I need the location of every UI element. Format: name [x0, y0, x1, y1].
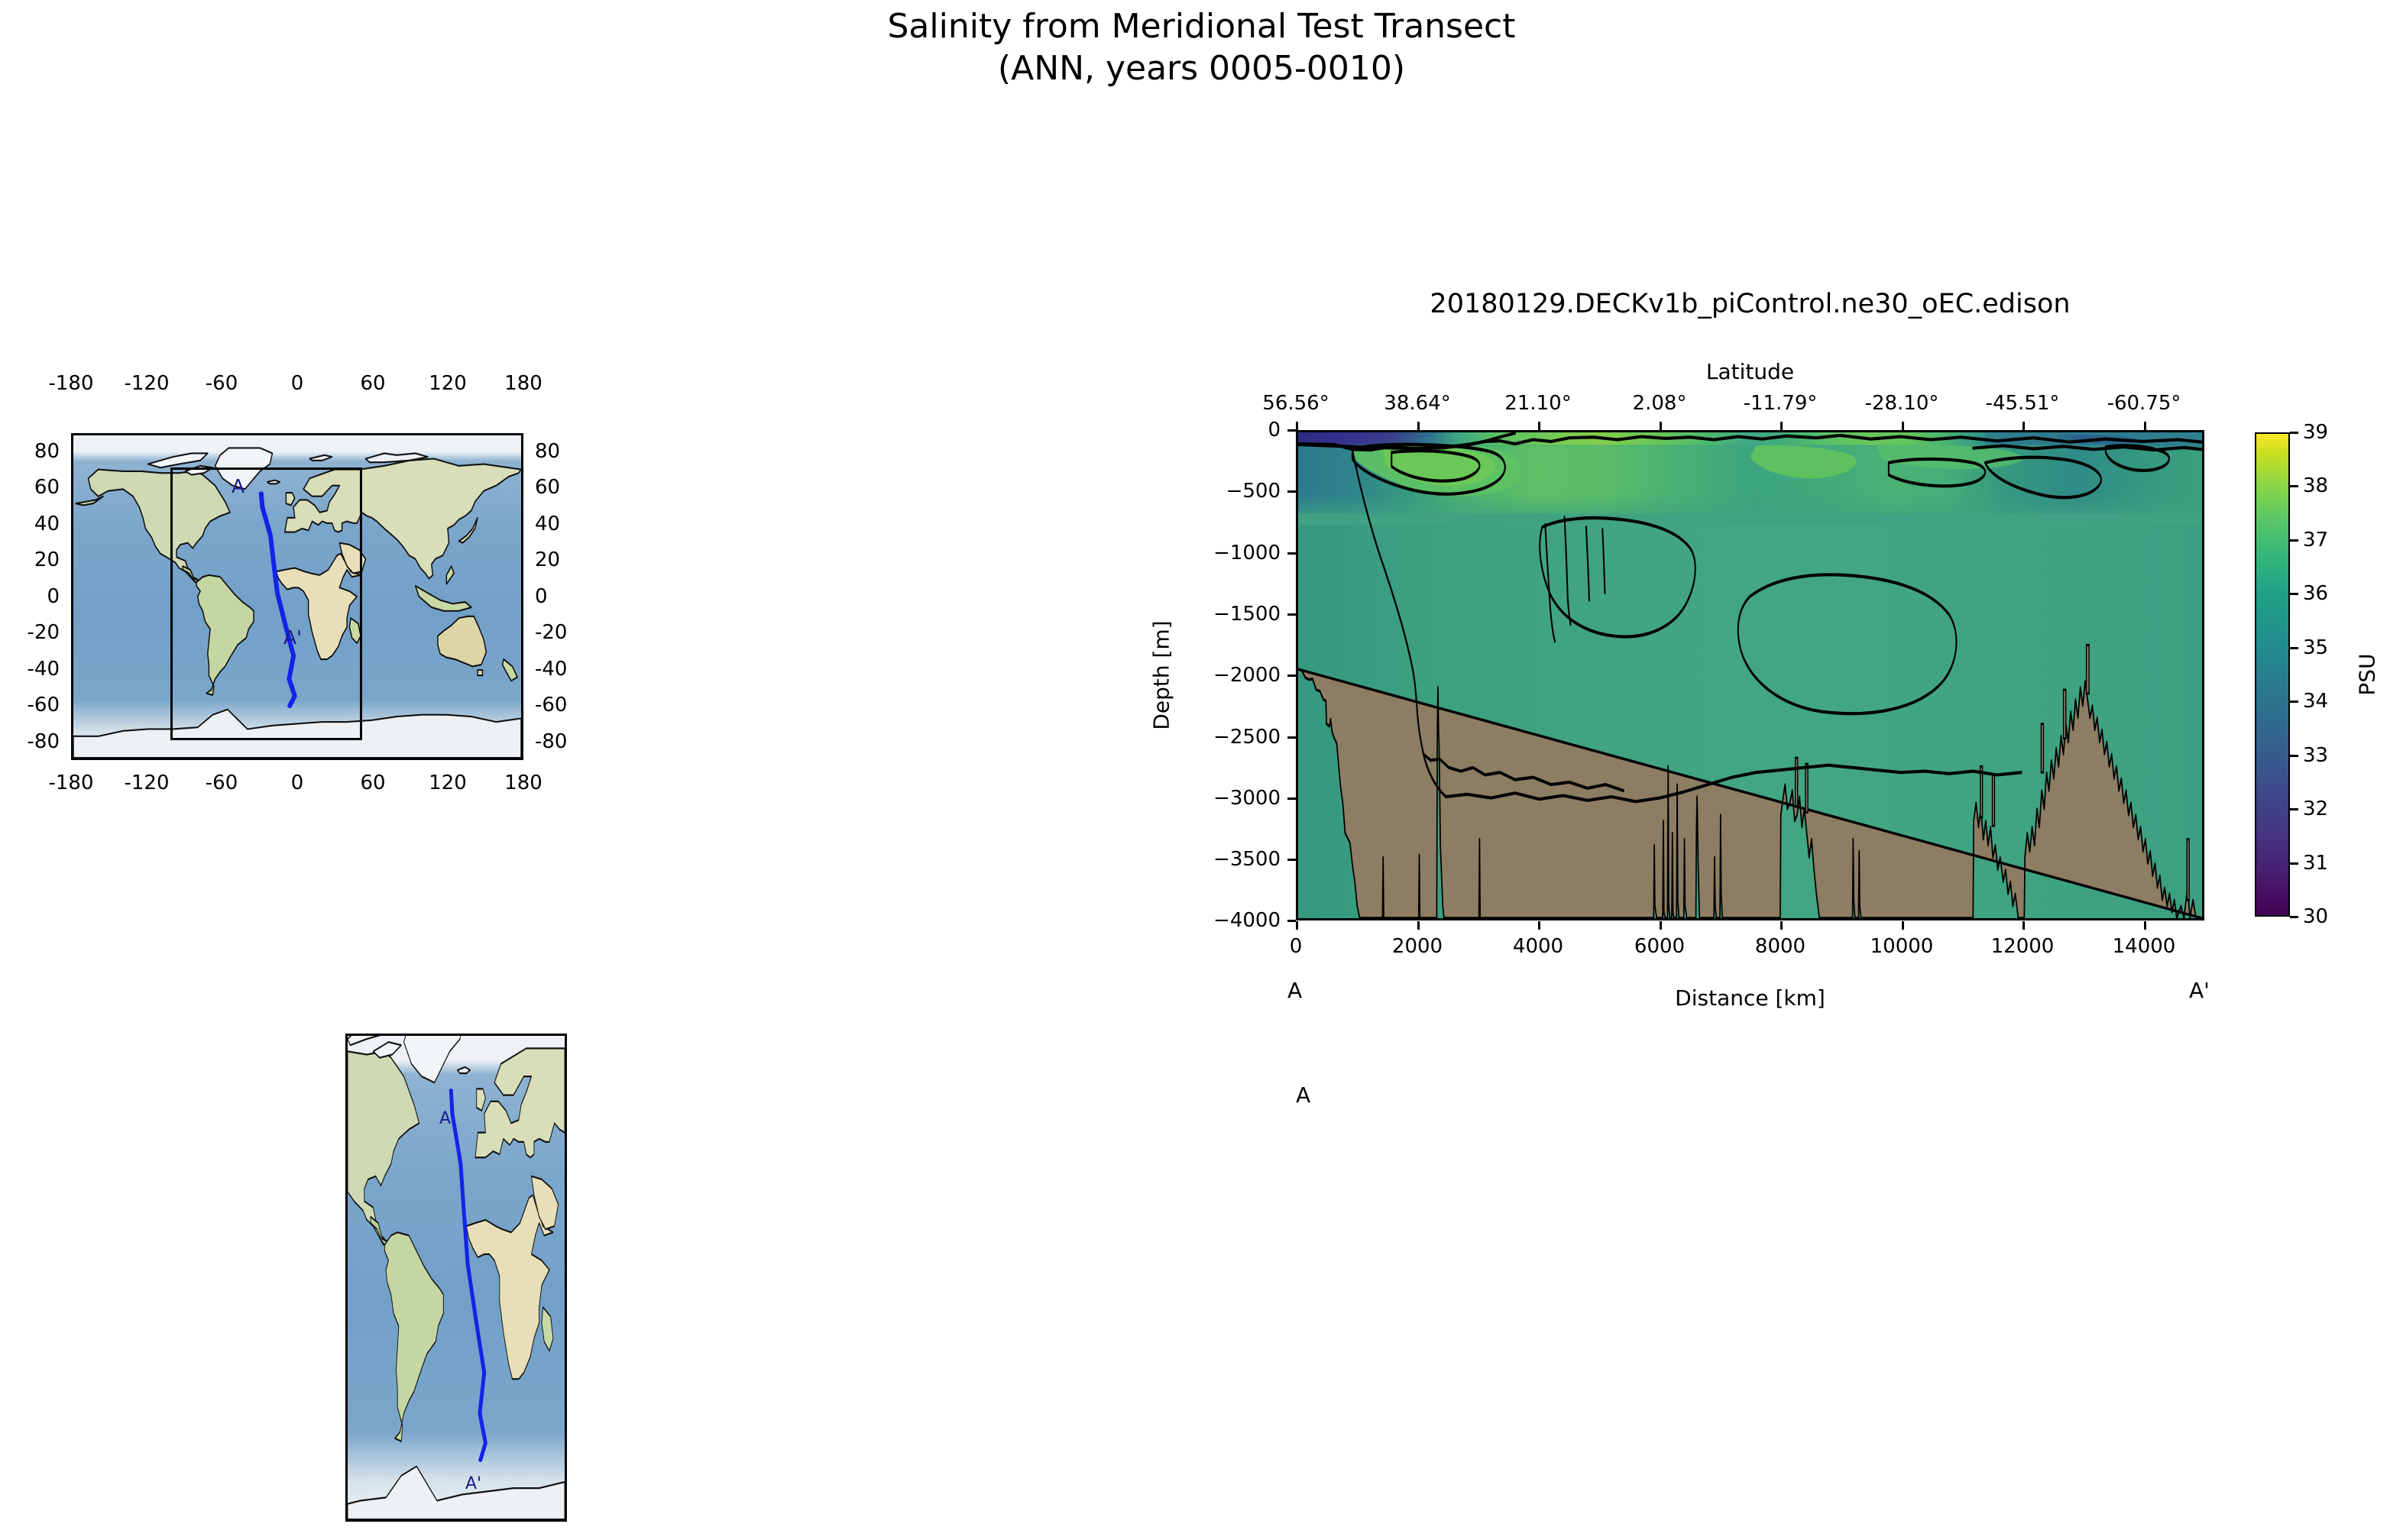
- transect-start-label: A: [1296, 1082, 1310, 1108]
- cbar-label-31: 31: [2303, 852, 2328, 875]
- lat-tickmark-0: [1296, 422, 1298, 430]
- salinity-field: [1298, 432, 2202, 918]
- dist-tickmark-5: [1902, 921, 1904, 930]
- lat-tick-3: 2.08°: [1633, 392, 1687, 415]
- cbar-tickmark-30: [2290, 916, 2298, 918]
- cbar-tickmark-39: [2290, 432, 2298, 434]
- global-map-xtick-top-2: -60: [206, 372, 238, 395]
- transect-end-endpoint-label: A': [2189, 978, 2210, 1003]
- transect-start-endpoint-label: A: [1287, 978, 1302, 1003]
- lat-tickmark-4: [1780, 422, 1783, 430]
- salinity-colorbar[interactable]: [2255, 432, 2290, 917]
- dist-tick-2: 4000: [1513, 935, 1563, 958]
- lat-tick-0: 56.56°: [1262, 392, 1329, 415]
- global-map-ytick-left-7: -60: [11, 694, 60, 717]
- lat-tick-1: 38.64°: [1384, 392, 1450, 415]
- dist-tickmark-4: [1780, 921, 1783, 930]
- global-map-ytick-right-8: -80: [535, 730, 567, 753]
- colorbar-gradient: [2255, 432, 2290, 917]
- global-map-xtick-top-6: 180: [504, 372, 542, 395]
- lat-tickmark-6: [2022, 422, 2025, 430]
- cbar-label-36: 36: [2303, 582, 2328, 605]
- cbar-label-35: 35: [2303, 636, 2328, 659]
- cbar-tickmark-35: [2290, 647, 2298, 649]
- depth-tick-5: −2500: [1167, 726, 1281, 749]
- cbar-label-34: 34: [2303, 690, 2328, 713]
- global-map-frame: [71, 433, 523, 760]
- global-map-xtick-bottom-3: 0: [291, 772, 304, 794]
- cbar-tickmark-36: [2290, 593, 2298, 595]
- global-map-ytick-left-1: 60: [23, 476, 60, 499]
- depth-axis-title: Depth [m]: [1149, 620, 1174, 730]
- depth-tick-0: 0: [1207, 419, 1281, 442]
- transect-line-inset: [348, 1036, 565, 1519]
- colorbar-title: PSU: [2355, 653, 2380, 695]
- depth-tickmark-6: [1287, 797, 1296, 800]
- dist-tick-4: 8000: [1755, 935, 1805, 958]
- global-map-xtick-top-5: 120: [429, 372, 467, 395]
- global-map-xtick-bottom-6: 180: [504, 772, 542, 794]
- cbar-label-39: 39: [2303, 421, 2328, 444]
- cbar-label-32: 32: [2303, 797, 2328, 820]
- lat-tickmark-3: [1660, 422, 1662, 430]
- cbar-label-33: 33: [2303, 744, 2328, 767]
- transect-end-label-global: A': [283, 626, 302, 649]
- global-map-ytick-left-3: 20: [23, 548, 60, 571]
- dist-tickmark-2: [1538, 921, 1540, 930]
- global-map-ytick-right-7: -60: [535, 694, 567, 717]
- lat-tickmark-5: [1902, 422, 1904, 430]
- global-locator-map[interactable]: A A': [71, 433, 523, 760]
- global-map-xtick-top-4: 60: [360, 372, 385, 395]
- global-map-ytick-right-5: -20: [535, 621, 567, 644]
- depth-tickmark-3: [1287, 613, 1296, 616]
- global-map-ytick-right-1: 60: [535, 476, 560, 499]
- global-map-xtick-bottom-1: -120: [124, 772, 169, 794]
- cbar-tickmark-34: [2290, 700, 2298, 703]
- depth-tickmark-7: [1287, 859, 1296, 861]
- depth-tickmark-1: [1287, 490, 1296, 493]
- latitude-axis-title: Latitude: [1296, 359, 2204, 384]
- page-title: Salinity from Meridional Test Transect (…: [0, 6, 2403, 89]
- global-map-ytick-right-2: 40: [535, 513, 560, 535]
- cbar-tickmark-31: [2290, 862, 2298, 865]
- depth-tickmark-8: [1287, 920, 1296, 922]
- cbar-tickmark-33: [2290, 755, 2298, 757]
- dist-tickmark-6: [2022, 921, 2025, 930]
- title-line-2: (ANN, years 0005-0010): [0, 48, 2403, 90]
- lat-tick-4: -11.79°: [1744, 392, 1818, 415]
- global-map-ytick-right-4: 0: [535, 585, 548, 608]
- dist-tickmark-1: [1417, 921, 1420, 930]
- global-map-ytick-right-3: 20: [535, 548, 560, 571]
- cbar-label-37: 37: [2303, 529, 2328, 552]
- depth-tick-6: −3000: [1167, 787, 1281, 810]
- depth-tickmark-2: [1287, 552, 1296, 555]
- inset-map-frame: [345, 1034, 567, 1522]
- lat-tickmark-1: [1417, 422, 1420, 430]
- dist-tick-1: 2000: [1392, 935, 1443, 958]
- depth-tick-7: −3500: [1167, 848, 1281, 871]
- global-map-xtick-bottom-0: -180: [48, 772, 93, 794]
- transect-start-label-global: A: [232, 475, 245, 497]
- cbar-tickmark-38: [2290, 485, 2298, 487]
- transect-start-label-inset: A: [439, 1109, 451, 1128]
- cbar-label-30: 30: [2303, 905, 2328, 928]
- title-line-1: Salinity from Meridional Test Transect: [887, 7, 1515, 46]
- global-map-xtick-bottom-5: 120: [429, 772, 467, 794]
- depth-tickmark-0: [1287, 429, 1296, 432]
- global-map-xtick-top-3: 0: [291, 372, 304, 395]
- dist-tickmark-3: [1660, 921, 1662, 930]
- global-map-ytick-right-0: 80: [535, 440, 560, 463]
- depth-tick-3: −1500: [1167, 603, 1281, 626]
- distance-axis-title: Distance [km]: [1296, 985, 2204, 1011]
- lat-tick-5: -28.10°: [1865, 392, 1939, 415]
- lat-tick-6: -45.51°: [1986, 392, 2060, 415]
- global-map-ytick-left-4: 0: [23, 585, 60, 608]
- global-map-ytick-left-0: 80: [23, 440, 60, 463]
- global-map-ytick-right-6: -40: [535, 658, 567, 681]
- depth-tick-1: −500: [1180, 480, 1281, 503]
- global-map-ytick-left-5: -20: [11, 621, 60, 644]
- cbar-tickmark-32: [2290, 808, 2298, 810]
- cbar-label-38: 38: [2303, 474, 2328, 497]
- dist-tick-6: 12000: [1991, 935, 2055, 958]
- global-map-xtick-bottom-2: -60: [206, 772, 238, 794]
- dist-tick-5: 10000: [1870, 935, 1934, 958]
- transect-line-global: [73, 435, 521, 758]
- depth-tick-4: −2000: [1167, 664, 1281, 687]
- global-map-xtick-bottom-4: 60: [360, 772, 385, 794]
- lat-tickmark-2: [1538, 422, 1540, 430]
- cbar-tickmark-37: [2290, 539, 2298, 542]
- salinity-transect[interactable]: A: [1296, 430, 2204, 920]
- atlantic-detail-map[interactable]: A A': [345, 1034, 567, 1522]
- lat-tickmark-7: [2144, 422, 2146, 430]
- depth-tick-2: −1000: [1167, 542, 1281, 565]
- depth-tickmark-4: [1287, 675, 1296, 677]
- lat-tick-7: -60.75°: [2107, 392, 2181, 415]
- transect-end-label-inset: A': [465, 1474, 481, 1493]
- depth-tickmark-5: [1287, 736, 1296, 739]
- depth-tick-8: −4000: [1167, 909, 1281, 932]
- global-map-ytick-left-8: -80: [11, 730, 60, 753]
- dist-tick-3: 6000: [1634, 935, 1685, 958]
- lat-tick-2: 21.10°: [1504, 392, 1571, 415]
- global-map-xtick-top-0: -180: [48, 372, 93, 395]
- dist-tickmark-7: [2144, 921, 2146, 930]
- global-map-ytick-left-2: 40: [23, 513, 60, 535]
- transect-plot-area: [1296, 430, 2204, 920]
- global-map-ytick-left-6: -40: [11, 658, 60, 681]
- dist-tick-0: 0: [1290, 935, 1303, 958]
- global-map-xtick-top-1: -120: [124, 372, 169, 395]
- dist-tick-7: 14000: [2113, 935, 2176, 958]
- transect-subtitle: 20180129.DECKv1b_piControl.ne30_oEC.edis…: [1296, 289, 2204, 319]
- dist-tickmark-0: [1296, 921, 1298, 930]
